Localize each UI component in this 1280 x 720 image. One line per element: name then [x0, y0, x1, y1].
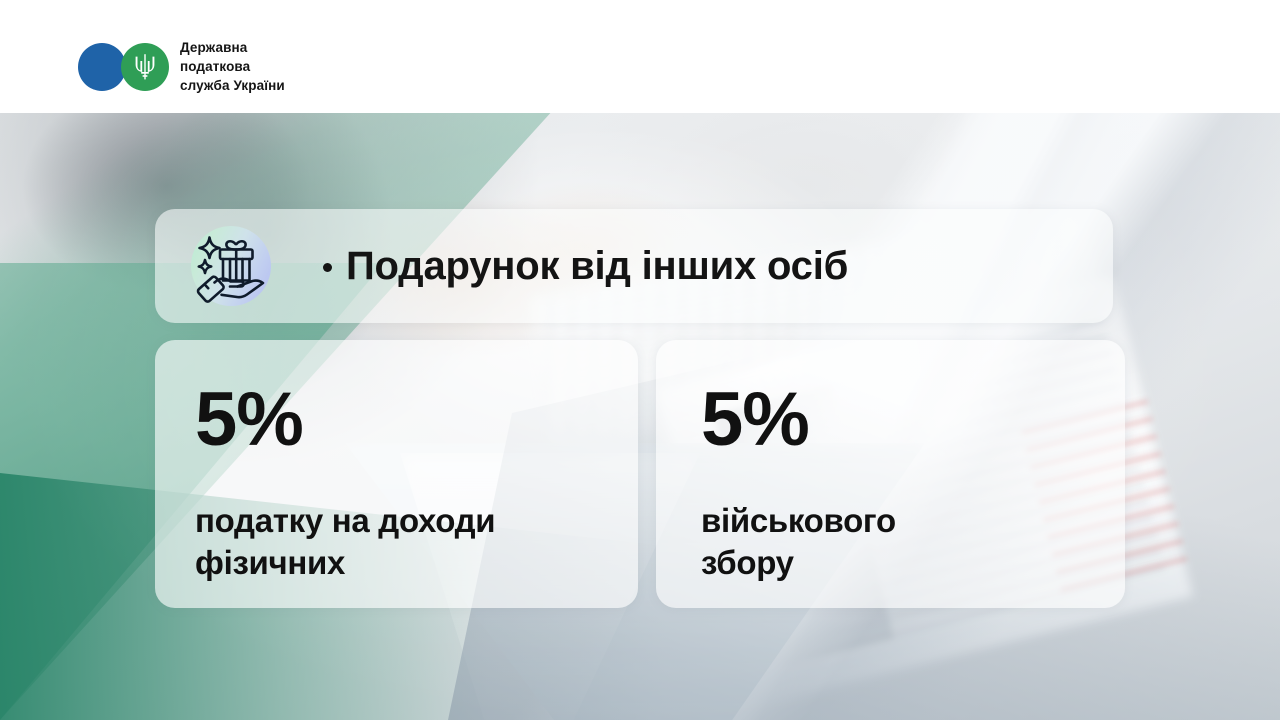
org-name-line-3: служба України: [180, 76, 285, 95]
stat-card-content: 5% військового збору: [701, 340, 1101, 608]
organization-logo: Державна податкова служба України: [78, 38, 285, 95]
trident-icon: [134, 53, 156, 81]
stat-label-line-2: фізичних: [195, 542, 614, 584]
stat-label: податку на доходи фізичних: [195, 500, 614, 584]
stat-label-line-1: військового: [701, 500, 1101, 542]
org-name-line-1: Державна: [180, 38, 285, 57]
org-name-line-2: податкова: [180, 57, 285, 76]
stat-label-line-2: збору: [701, 542, 1101, 584]
title-card: Подарунок від інших осіб: [155, 209, 1113, 323]
stat-label: військового збору: [701, 500, 1101, 584]
slide-canvas: Подарунок від інших осіб 5% податку на д…: [0, 0, 1280, 720]
gift-in-hand-glyph: [185, 220, 277, 312]
bullet-icon: [323, 263, 332, 272]
title-label: Подарунок від інших осіб: [346, 244, 848, 289]
stat-label-line-1: податку на доходи: [195, 500, 614, 542]
stat-card-military-levy: 5% військового збору: [656, 340, 1125, 608]
stat-card-content: 5% податку на доходи фізичних: [195, 340, 614, 608]
logo-marks: [78, 43, 170, 91]
logo-blue-circle-icon: [78, 43, 126, 91]
stat-value: 5%: [701, 382, 1101, 458]
header-bar: Державна податкова служба України: [0, 0, 1280, 113]
stat-value: 5%: [195, 382, 614, 458]
title-text-wrap: Подарунок від інших осіб: [323, 244, 848, 289]
stat-card-income-tax: 5% податку на доходи фізичних: [155, 340, 638, 608]
organization-name: Державна податкова служба України: [180, 38, 285, 95]
gift-in-hand-icon: [185, 220, 277, 312]
logo-green-circle-icon: [121, 43, 169, 91]
